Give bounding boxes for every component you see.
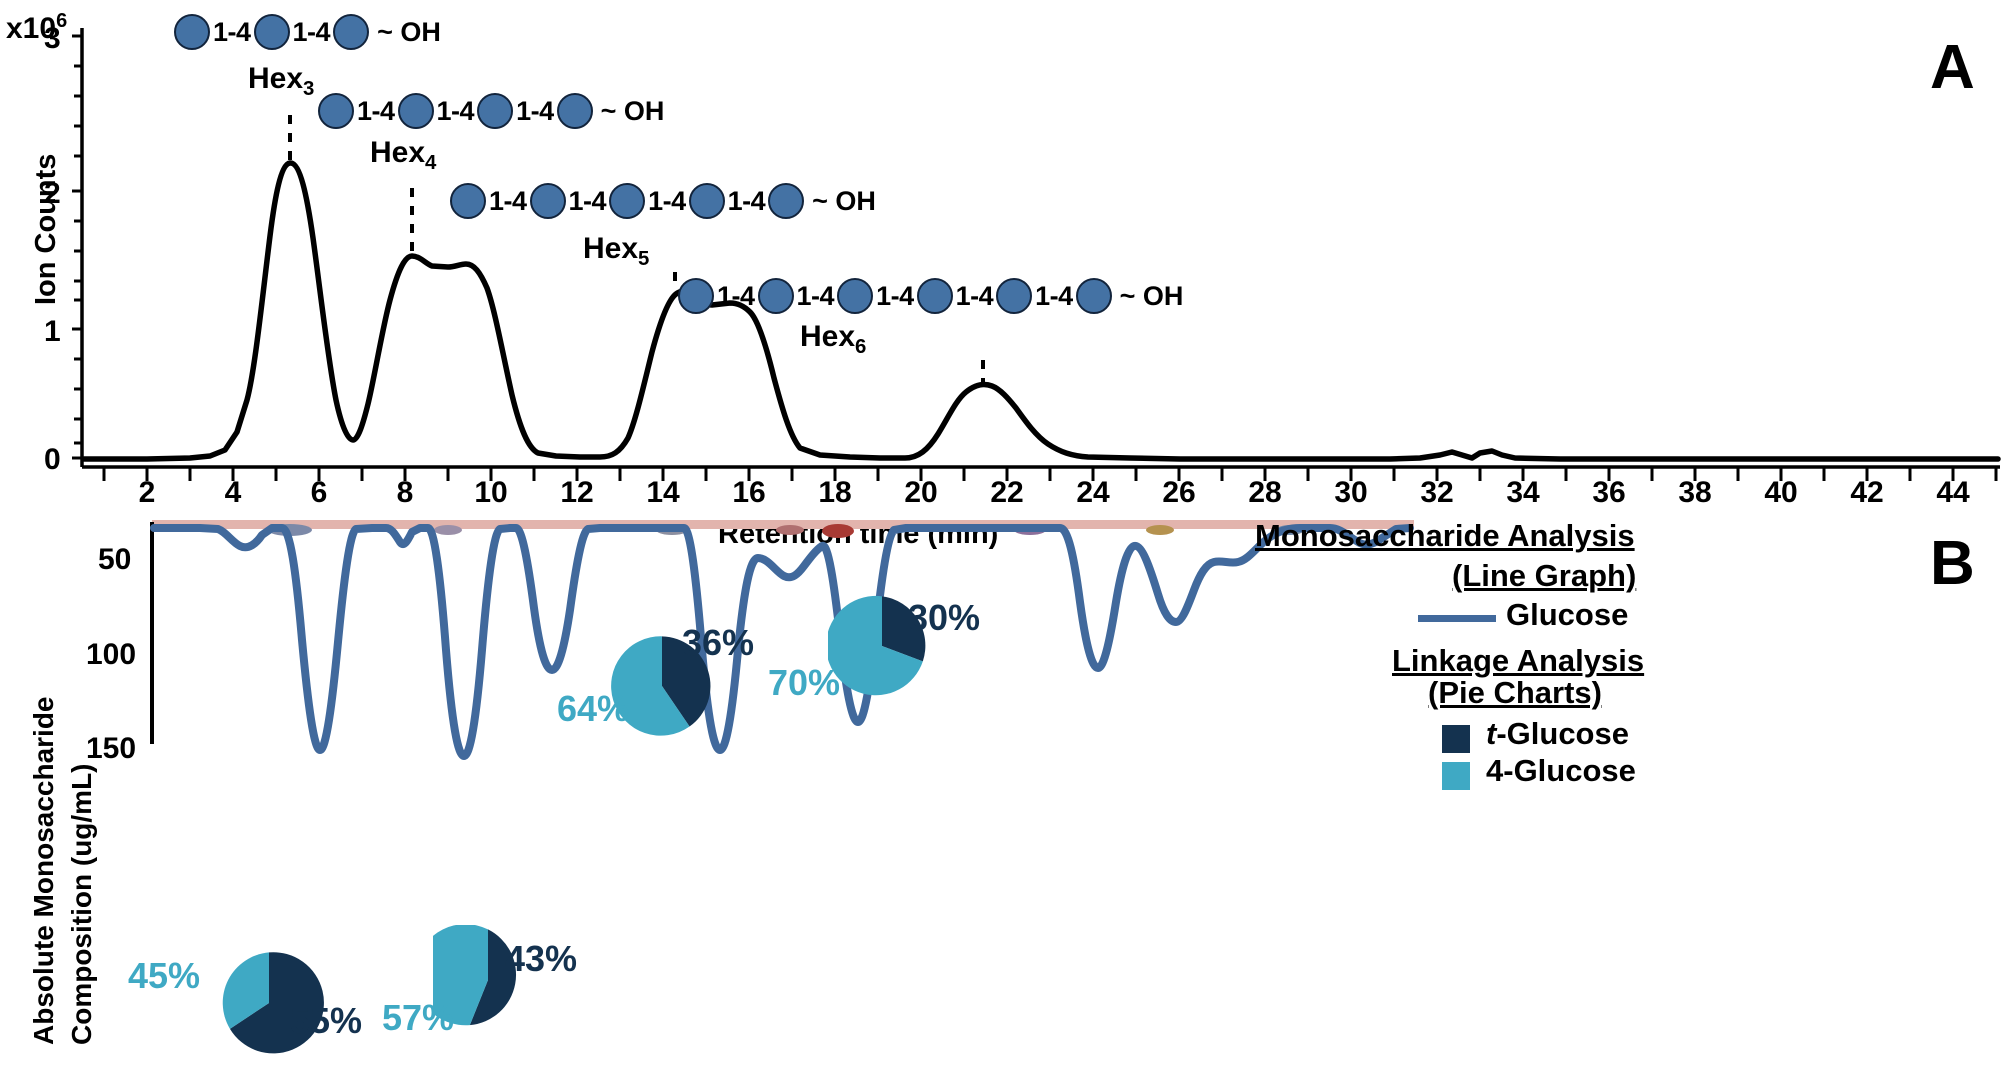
- hexose-circle: [174, 14, 210, 50]
- linkage-label: 1-4: [486, 186, 530, 217]
- pie-hex4-four-glucose-label: 57%: [382, 997, 454, 1039]
- linkage-label: 1-4: [725, 186, 769, 217]
- pie-hex3-four-glucose-label: 45%: [128, 955, 200, 997]
- peak-label-hex3-name: Hex: [248, 62, 303, 95]
- hexose-circle: [678, 278, 714, 314]
- pie-hex4-t-glucose-label: 43%: [505, 938, 577, 980]
- hexose-circle: [758, 278, 794, 314]
- panel-a-x-tick-32: 32: [1420, 476, 1453, 510]
- hexose-circle: [996, 278, 1032, 314]
- pie-hex6-t-glucose-label: 30%: [908, 597, 980, 639]
- legend-t-glucose-swatch: [1442, 725, 1470, 753]
- legend-4-glucose-suffix: 4-Glucose: [1486, 753, 1636, 788]
- hexose-circle: [689, 183, 725, 219]
- legend-4-glucose-swatch: [1442, 762, 1470, 790]
- panel-a-x-tick-34: 34: [1506, 476, 1539, 510]
- glycan-structure-hex3: 1-4 1-4 ~ OH: [174, 14, 441, 50]
- legend-t-glucose-suffix: -Glucose: [1496, 716, 1629, 751]
- terminus-label: ~ OH: [369, 17, 441, 48]
- linkage-label: 1-4: [794, 281, 838, 312]
- panel-a-x-tick-20: 20: [904, 476, 937, 510]
- linkage-label: 1-4: [645, 186, 689, 217]
- panel-a-x-tick-4: 4: [225, 476, 242, 510]
- pie-hex5-t-glucose-label: 36%: [682, 622, 754, 664]
- linkage-label: 1-4: [434, 96, 478, 127]
- hexose-circle: [609, 183, 645, 219]
- peak-label-hex5: Hex5: [583, 232, 649, 271]
- linkage-label: 1-4: [953, 281, 997, 312]
- hexose-circle: [450, 183, 486, 219]
- terminus-label: ~ OH: [593, 96, 665, 127]
- panel-a-x-tick-40: 40: [1764, 476, 1797, 510]
- hexose-circle: [1076, 278, 1112, 314]
- legend-linkage-title-line1: Linkage Analysis: [1392, 643, 1644, 679]
- panel-a-x-tick-26: 26: [1162, 476, 1195, 510]
- peak-label-hex6-sub: 6: [855, 336, 866, 358]
- panel-a-x-tick-2: 2: [139, 476, 156, 510]
- peak-label-hex3: Hex3: [248, 62, 314, 101]
- linkage-label: 1-4: [873, 281, 917, 312]
- hexose-circle: [477, 93, 513, 129]
- peak-label-hex5-sub: 5: [638, 248, 649, 270]
- legend-t-glucose-label: t-Glucose: [1486, 716, 1629, 752]
- linkage-label: 1-4: [513, 96, 557, 127]
- peak-label-hex6-name: Hex: [800, 320, 855, 353]
- panel-a-x-tick-24: 24: [1076, 476, 1109, 510]
- panel-a-x-tick-42: 42: [1850, 476, 1883, 510]
- hexose-circle: [917, 278, 953, 314]
- linkage-label: 1-4: [714, 281, 758, 312]
- peak-label-hex4-sub: 4: [425, 152, 436, 174]
- panel-b-plot: [0, 510, 2005, 850]
- glycan-structure-hex6: 1-4 1-4 1-4 1-4 1-4 ~ OH: [678, 278, 1183, 314]
- hexose-circle: [530, 183, 566, 219]
- hexose-circle: [333, 14, 369, 50]
- peak-label-hex3-sub: 3: [303, 78, 314, 100]
- hexose-circle: [398, 93, 434, 129]
- hexose-circle: [837, 278, 873, 314]
- linkage-label: 1-4: [290, 17, 334, 48]
- legend-t-glucose-prefix: t: [1486, 716, 1496, 751]
- peak-label-hex5-name: Hex: [583, 232, 638, 265]
- pie-hex5-four-glucose-label: 64%: [557, 688, 629, 730]
- legend-linkage-title-line2: (Pie Charts): [1428, 675, 1602, 711]
- panel-a-x-tick-8: 8: [397, 476, 414, 510]
- legend-4-glucose-label: 4-Glucose: [1486, 753, 1636, 789]
- pie-hex6-four-glucose-label: 70%: [768, 662, 840, 704]
- figure-root: A x106 Ion Counts 3 2 1 0: [0, 0, 2005, 1066]
- linkage-label: 1-4: [1032, 281, 1076, 312]
- panel-a-x-tick-14: 14: [646, 476, 679, 510]
- hexose-circle: [254, 14, 290, 50]
- linkage-label: 1-4: [210, 17, 254, 48]
- panel-b-glucose-trace: [154, 528, 1410, 756]
- panel-a-x-tick-6: 6: [311, 476, 328, 510]
- hexose-circle: [557, 93, 593, 129]
- legend-glucose-label: Glucose: [1506, 597, 1628, 633]
- linkage-label: 1-4: [354, 96, 398, 127]
- panel-a-x-tick-36: 36: [1592, 476, 1625, 510]
- legend-glucose-swatch: [1418, 615, 1496, 622]
- panel-a-x-tick-12: 12: [560, 476, 593, 510]
- peak-label-hex6: Hex6: [800, 320, 866, 359]
- panel-a-x-tick-30: 30: [1334, 476, 1367, 510]
- pie-hex3-t-glucose-label: 55%: [290, 1000, 362, 1042]
- glycan-structure-hex4: 1-4 1-4 1-4 ~ OH: [318, 93, 664, 129]
- hexose-circle: [318, 93, 354, 129]
- panel-a-x-tick-44: 44: [1936, 476, 1969, 510]
- panel-a-x-tick-10: 10: [474, 476, 507, 510]
- glycan-structure-hex5: 1-4 1-4 1-4 1-4 ~ OH: [450, 183, 876, 219]
- terminus-label: ~ OH: [1112, 281, 1184, 312]
- panel-a-x-tick-18: 18: [818, 476, 851, 510]
- panel-a-x-tick-38: 38: [1678, 476, 1711, 510]
- terminus-label: ~ OH: [804, 186, 876, 217]
- panel-a-x-tick-28: 28: [1248, 476, 1281, 510]
- hexose-circle: [768, 183, 804, 219]
- panel-a-x-tick-16: 16: [732, 476, 765, 510]
- panel-a-x-tick-22: 22: [990, 476, 1023, 510]
- legend-monosaccharide-title-line1: Monosaccharide Analysis: [1255, 518, 1635, 554]
- peak-label-hex4-name: Hex: [370, 136, 425, 169]
- peak-label-hex4: Hex4: [370, 136, 436, 175]
- linkage-label: 1-4: [566, 186, 610, 217]
- legend-monosaccharide-title-line2: (Line Graph): [1452, 558, 1636, 594]
